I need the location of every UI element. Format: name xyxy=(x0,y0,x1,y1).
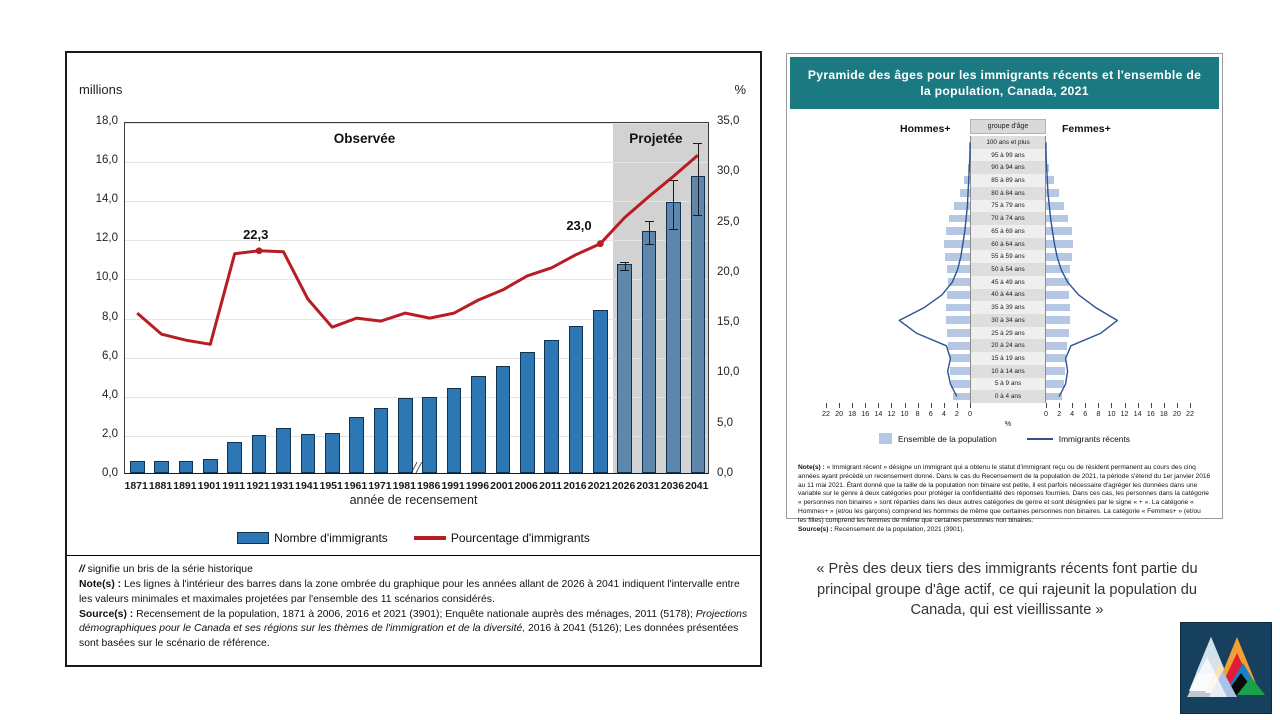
y-tick-left-14,0: 14,0 xyxy=(72,193,118,205)
notes-divider xyxy=(67,555,760,556)
pyramid-axis-label: 4 xyxy=(1065,409,1079,418)
pyramid-title: Pyramide des âges pour les immigrants ré… xyxy=(790,57,1219,109)
pyramid-footnote-notes: Note(s) : « Immigrant récent » désigne u… xyxy=(798,464,1211,526)
error-cap-2041-max xyxy=(693,143,702,144)
error-cap-2031-max xyxy=(645,221,654,222)
pyramid-tick xyxy=(891,403,892,408)
chart-legend: Nombre d'immigrants Pourcentage d'immigr… xyxy=(67,531,760,545)
pyramid-axis-label: 6 xyxy=(1078,409,1092,418)
chart-footnotes: // signifie un bris de la série historiq… xyxy=(79,563,750,652)
pyramid-axis-label: 0 xyxy=(963,409,977,418)
y-tick-left-16,0: 16,0 xyxy=(72,154,118,166)
pyramid-legend-item-population: Ensemble de la population xyxy=(879,433,997,444)
pyramid-tick xyxy=(865,403,866,408)
footnote-break: // signifie un bris de la série historiq… xyxy=(79,563,750,577)
pyramid-legend-bar-swatch-icon xyxy=(879,433,892,444)
legend-line-swatch-icon xyxy=(414,536,446,540)
pyramid-axis-label: 16 xyxy=(1144,409,1158,418)
y-tick-left-0,0: 0,0 xyxy=(72,467,118,479)
pyramid-tick xyxy=(1046,403,1047,408)
line-marker-2021 xyxy=(597,240,604,247)
error-bar-2031 xyxy=(649,221,650,244)
y-tick-left-8,0: 8,0 xyxy=(72,311,118,323)
series-break-marker: // xyxy=(412,458,421,478)
pyramid-axis-label: 14 xyxy=(1131,409,1145,418)
y-tick-right-25,0: 25,0 xyxy=(717,216,763,228)
pyramid-tick xyxy=(918,403,919,408)
x-tick-2041: 2041 xyxy=(677,480,717,492)
pyramid-legend-bar-label: Ensemble de la population xyxy=(898,434,997,444)
pyramid-axis-label: 20 xyxy=(1170,409,1184,418)
y-tick-left-18,0: 18,0 xyxy=(72,115,118,127)
pyramid-axis-label: 0 xyxy=(1039,409,1053,418)
pyramid-axis-label: 22 xyxy=(819,409,833,418)
y-tick-left-4,0: 4,0 xyxy=(72,389,118,401)
legend-bar-swatch-icon xyxy=(237,532,269,544)
error-cap-2041-min xyxy=(693,215,702,216)
pyramid-axis-label: 4 xyxy=(937,409,951,418)
pyramid-axis-label: 12 xyxy=(1118,409,1132,418)
pyramid-tick xyxy=(957,403,958,408)
line-marker-1921 xyxy=(256,247,263,254)
pyramid-tick xyxy=(1164,403,1165,408)
y-tick-right-30,0: 30,0 xyxy=(717,165,763,177)
organization-logo-icon xyxy=(1180,622,1272,714)
pyramid-tick xyxy=(1111,403,1112,408)
pyramid-tick xyxy=(1125,403,1126,408)
annotation-2021: 23,0 xyxy=(566,218,591,233)
y-tick-left-10,0: 10,0 xyxy=(72,271,118,283)
pyramid-notes-label: Note(s) : xyxy=(798,464,825,471)
pyramid-axis-label: 2 xyxy=(950,409,964,418)
pyramid-percent-label: % xyxy=(826,419,1190,428)
pyramid-tick xyxy=(1190,403,1191,408)
pyramid-tick xyxy=(944,403,945,408)
error-cap-2026-min xyxy=(620,270,629,271)
pyramid-tick xyxy=(878,403,879,408)
pyramid-axis-label: 14 xyxy=(871,409,885,418)
x-axis-title: année de recensement xyxy=(67,493,760,507)
y-tick-right-35,0: 35,0 xyxy=(717,115,763,127)
footnote-source-label: Source(s) : xyxy=(79,609,133,620)
pyramid-axis-label: 16 xyxy=(858,409,872,418)
error-bar-2036 xyxy=(673,180,674,229)
percentage-line-series xyxy=(125,123,709,474)
percentage-line-path xyxy=(137,155,698,344)
pyramid-tick xyxy=(1059,403,1060,408)
pyramid-axis-label: 12 xyxy=(884,409,898,418)
error-cap-2026-max xyxy=(620,262,629,263)
legend-item-bars: Nombre d'immigrants xyxy=(237,531,388,545)
annotation-1921: 22,3 xyxy=(243,227,268,242)
chart-canvas: Observée Projetée 22,3 23,0 xyxy=(124,122,709,474)
y-tick-right-0,0: 0,0 xyxy=(717,467,763,479)
pyramid-tick xyxy=(1177,403,1178,408)
observed-band-label: Observée xyxy=(334,131,396,146)
pyramid-legend-line-label: Immigrants récents xyxy=(1059,434,1130,444)
pyramid-axis-label: 10 xyxy=(898,409,912,418)
pyramid-tick xyxy=(1138,403,1139,408)
pyramid-tick xyxy=(1072,403,1073,408)
error-bar-2026 xyxy=(625,262,626,270)
y-tick-left-2,0: 2,0 xyxy=(72,428,118,440)
slide-caption: « Près des deux tiers des immigrants réc… xyxy=(792,559,1222,621)
y-tick-right-20,0: 20,0 xyxy=(717,266,763,278)
pyramid-tick xyxy=(970,403,971,408)
footnote-sources: Source(s) : Recensement de la population… xyxy=(79,608,750,651)
pyramid-axis-label: 22 xyxy=(1183,409,1197,418)
pyramid-axis-label: 18 xyxy=(845,409,859,418)
pyramid-age-group-header: groupe d'âge xyxy=(970,119,1046,134)
pyramid-axis-label: 10 xyxy=(1104,409,1118,418)
footnote-source-part1: Recensement de la population, 1871 à 200… xyxy=(133,609,695,620)
left-axis-unit-label: millions xyxy=(79,82,122,97)
pyramid-recent-immigrants-line xyxy=(826,136,1190,403)
pyramid-footnote-source: Source(s) : Recensement de la population… xyxy=(798,526,1211,535)
pyramid-legend-line-swatch-icon xyxy=(1027,438,1053,440)
pyramid-source-text: Recensement de la population, 2021 (3901… xyxy=(832,526,964,533)
pyramid-line-right xyxy=(1046,142,1117,396)
pyramid-axis-label: 20 xyxy=(832,409,846,418)
pyramid-tick xyxy=(826,403,827,408)
pyramid-left-side-label: Hommes+ xyxy=(900,123,950,135)
pyramid-notes-text: « Immigrant récent » désigne un immigran… xyxy=(798,464,1210,524)
pyramid-body: Hommes+ groupe d'âge Femmes+ 100 ans et … xyxy=(790,111,1219,461)
pyramid-tick xyxy=(931,403,932,408)
pyramid-tick xyxy=(1085,403,1086,408)
legend-line-label: Pourcentage d'immigrants xyxy=(451,531,590,545)
error-cap-2036-min xyxy=(669,229,678,230)
chart-plot-area: Observée Projetée 22,3 23,0 0,02,04,06,0… xyxy=(124,122,709,474)
immigrants-chart-panel: millions % Observée Projetée 22,3 23,0 0… xyxy=(65,51,762,667)
error-cap-2031-min xyxy=(645,244,654,245)
pyramid-right-side-label: Femmes+ xyxy=(1062,123,1111,135)
pyramid-legend-item-immigrants: Immigrants récents xyxy=(1027,434,1130,444)
y-tick-right-5,0: 5,0 xyxy=(717,417,763,429)
error-bar-2041 xyxy=(698,143,699,215)
pyramid-axis-label: 18 xyxy=(1157,409,1171,418)
pyramid-legend: Ensemble de la population Immigrants réc… xyxy=(790,433,1219,444)
pyramid-tick xyxy=(1098,403,1099,408)
right-axis-unit-label: % xyxy=(734,82,746,97)
y-tick-left-6,0: 6,0 xyxy=(72,350,118,362)
pyramid-axis-label: 8 xyxy=(1091,409,1105,418)
age-pyramid-card: Pyramide des âges pour les immigrants ré… xyxy=(786,53,1223,519)
y-tick-right-10,0: 10,0 xyxy=(717,366,763,378)
y-tick-right-15,0: 15,0 xyxy=(717,316,763,328)
legend-bar-label: Nombre d'immigrants xyxy=(274,531,388,545)
pyramid-tick xyxy=(852,403,853,408)
pyramid-x-axis: 22201816141210864200246810121416182022 % xyxy=(826,403,1190,429)
pyramid-footnotes: Note(s) : « Immigrant récent » désigne u… xyxy=(790,464,1219,515)
legend-item-line: Pourcentage d'immigrants xyxy=(414,531,590,545)
pyramid-axis-label: 6 xyxy=(924,409,938,418)
projected-band-label: Projetée xyxy=(629,131,682,146)
footnote-notes-text: Les lignes à l'intérieur des barres dans… xyxy=(79,579,740,604)
pyramid-axis-label: 2 xyxy=(1052,409,1066,418)
pyramid-line-left xyxy=(899,142,970,396)
pyramid-tick xyxy=(1151,403,1152,408)
y-tick-left-12,0: 12,0 xyxy=(72,232,118,244)
footnote-break-text: signifie un bris de la série historique xyxy=(85,564,253,575)
pyramid-source-label: Source(s) : xyxy=(798,526,832,533)
pyramid-axis-label: 8 xyxy=(911,409,925,418)
logo-triangles-icon xyxy=(1181,623,1271,713)
footnote-notes: Note(s) : Les lignes à l'intérieur des b… xyxy=(79,578,750,607)
error-cap-2036-max xyxy=(669,180,678,181)
pyramid-tick xyxy=(905,403,906,408)
pyramid-tick xyxy=(839,403,840,408)
footnote-notes-label: Note(s) : xyxy=(79,579,121,590)
pyramid-plot-area: 100 ans et plus95 à 99 ans90 à 94 ans85 … xyxy=(826,136,1190,403)
